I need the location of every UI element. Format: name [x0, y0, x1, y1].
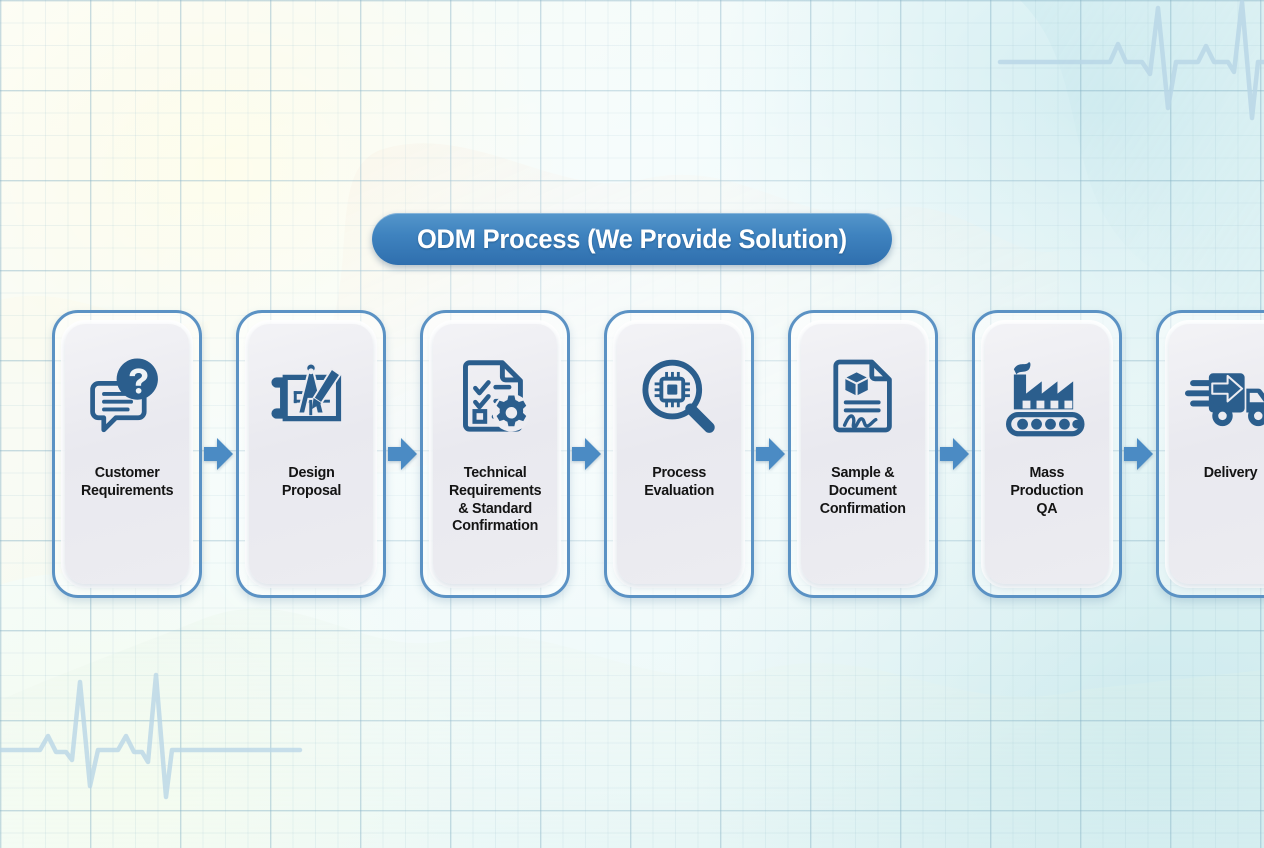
process-step-technical-requirements[interactable]: Technical Requirements & Standard Confir…: [420, 310, 570, 598]
step-card-inner: Design Proposal: [249, 324, 373, 584]
step-card-inner: Technical Requirements & Standard Confir…: [433, 324, 557, 584]
process-step-design-proposal[interactable]: Design Proposal: [236, 310, 386, 598]
factory-conveyor-icon: [997, 332, 1097, 464]
flow-arrow-3: [570, 310, 604, 598]
step-label: Process Evaluation: [641, 464, 716, 500]
flow-arrow-1: [202, 310, 236, 598]
flow-arrow-2: [386, 310, 420, 598]
step-card-inner: Delivery: [1169, 324, 1264, 584]
step-label: Customer Requirements: [78, 464, 176, 500]
step-label: Sample & Document Confirmation: [817, 464, 909, 517]
step-card-inner: Sample & Document Confirmation: [801, 324, 925, 584]
flow-arrow-4: [754, 310, 788, 598]
step-label: Design Proposal: [279, 464, 344, 500]
process-step-process-evaluation[interactable]: Process Evaluation: [604, 310, 754, 598]
process-step-mass-production-qa[interactable]: Mass Production QA: [972, 310, 1122, 598]
step-card-inner: Process Evaluation: [617, 324, 741, 584]
chat-question-icon: [77, 332, 177, 464]
title-banner: ODM Process (We Provide Solution): [372, 213, 892, 265]
blueprint-compass-pencil-icon: [261, 332, 361, 464]
title-banner-wrapper: ODM Process (We Provide Solution): [0, 213, 1264, 265]
delivery-truck-icon: [1181, 332, 1264, 464]
flow-arrow-6: [1122, 310, 1156, 598]
magnifier-chip-icon: [629, 332, 729, 464]
step-card-inner: Mass Production QA: [985, 324, 1109, 584]
step-label: Mass Production QA: [1008, 464, 1087, 517]
process-step-sample-document[interactable]: Sample & Document Confirmation: [788, 310, 938, 598]
page-title: ODM Process (We Provide Solution): [417, 224, 847, 255]
flow-arrow-5: [938, 310, 972, 598]
step-card-inner: Customer Requirements: [65, 324, 189, 584]
process-step-customer-requirements[interactable]: Customer Requirements: [52, 310, 202, 598]
step-label: Technical Requirements & Standard Confir…: [446, 464, 544, 535]
step-label: Delivery: [1201, 464, 1260, 482]
process-flow-row: Customer Requirements: [52, 310, 1224, 598]
checklist-gear-icon: [445, 332, 545, 464]
document-box-signature-icon: [813, 332, 913, 464]
process-step-delivery[interactable]: Delivery: [1156, 310, 1264, 598]
